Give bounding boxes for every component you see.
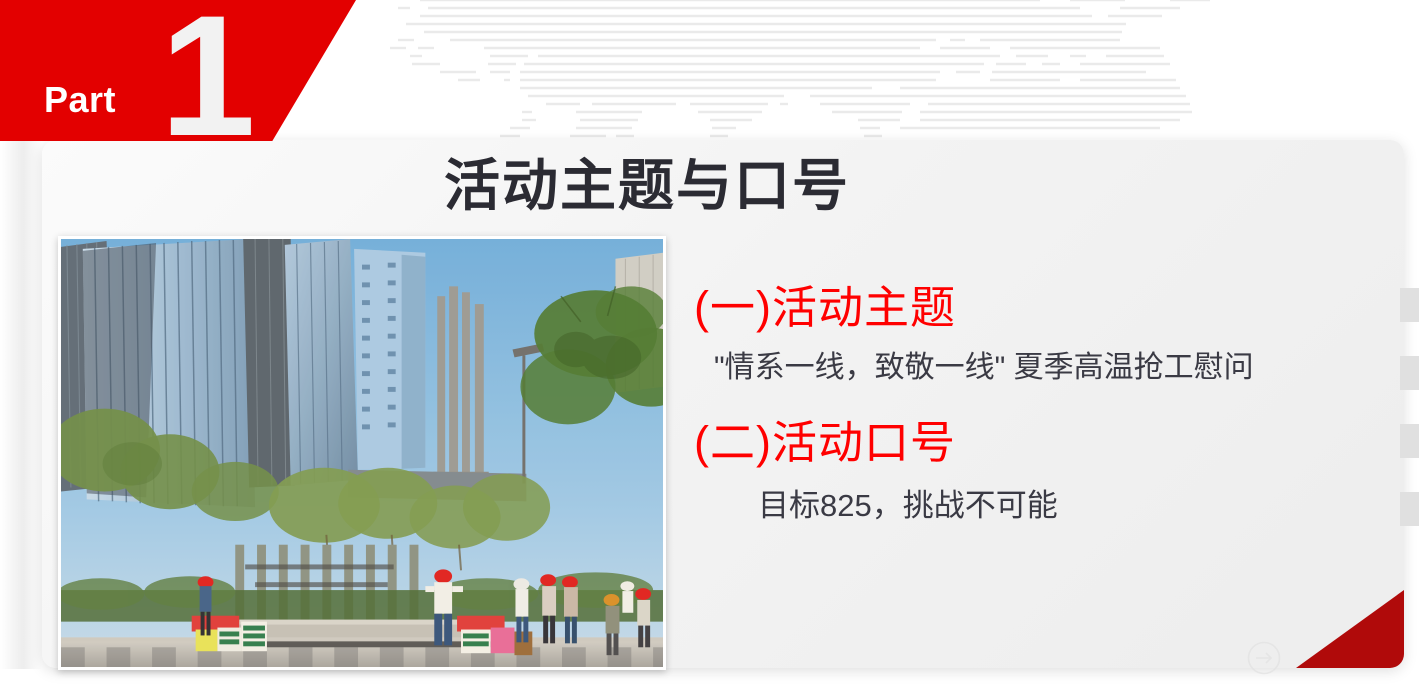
activity-photo bbox=[58, 236, 666, 670]
content-column: (一)活动主题 "情系一线，致敬一线" 夏季高温抢工慰问 (二)活动口号 目标8… bbox=[694, 280, 1394, 526]
world-map-pattern bbox=[380, 0, 1300, 146]
arrow-right-circle-icon[interactable] bbox=[1246, 640, 1282, 676]
section-2-body: 目标825，挑战不可能 bbox=[758, 486, 1394, 526]
bottom-edge-strip bbox=[0, 669, 1419, 687]
part-label: Part bbox=[44, 82, 116, 118]
section-1-body: "情系一线，致敬一线" 夏季高温抢工慰问 bbox=[714, 348, 1394, 387]
part-banner: 1 Part bbox=[0, 0, 356, 141]
section-1-heading: (一)活动主题 bbox=[694, 280, 1394, 336]
page-title: 活动主题与口号 bbox=[444, 155, 850, 217]
card-corner-accent bbox=[1296, 590, 1404, 668]
slide-stage: 1 Part 活动主题与口号 bbox=[0, 0, 1419, 687]
left-edge-sliver bbox=[0, 141, 42, 687]
section-2-heading: (二)活动口号 bbox=[694, 415, 1394, 471]
part-number: 1 bbox=[160, 0, 252, 162]
